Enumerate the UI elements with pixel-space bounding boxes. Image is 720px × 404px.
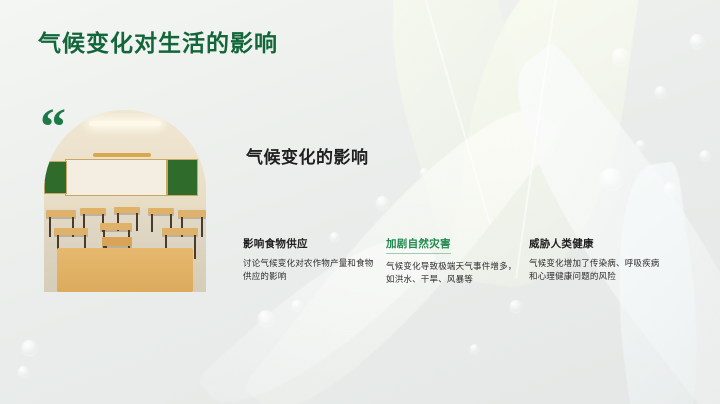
water-droplet-icon (690, 34, 704, 48)
photo-desk (46, 210, 76, 217)
leaf-shape-icon (359, 0, 557, 241)
photo-foreground-desk (57, 248, 193, 292)
photo-desk-leg (49, 217, 51, 237)
leaf-vein (415, 0, 491, 225)
photo-desk-leg (136, 213, 138, 231)
water-droplet-icon (470, 344, 479, 353)
classroom-photo (44, 110, 206, 292)
impact-column-body: 气候变化增加了传染病、呼吸疾病和心理健康问题的风险 (529, 257, 660, 283)
photo-desk-leg (194, 235, 196, 259)
impact-column-body: 讨论气候变化对农作物产量和食物供应的影响 (243, 257, 374, 283)
impact-column-heading: 加剧自然灾害 (386, 236, 451, 254)
photo-desk-leg (201, 217, 203, 237)
water-droplet-icon (292, 300, 302, 310)
impact-column-health: 威胁人类健康 气候变化增加了传染病、呼吸疾病和心理健康问题的风险 (529, 234, 672, 286)
slide-title: 气候变化对生活的影响 (38, 24, 278, 58)
photo-desk (162, 228, 198, 235)
photo-whiteboard (65, 159, 167, 196)
water-droplet-icon (612, 48, 629, 65)
photo-desk (100, 223, 132, 230)
slide-canvas: 气候变化对生活的影响 (0, 0, 720, 404)
impact-column-food: 影响食物供应 讨论气候变化对农作物产量和食物供应的影响 (243, 234, 386, 286)
impact-column-disasters: 加剧自然灾害 气候变化导致极端天气事件增多，如洪水、干旱、风暴等 (386, 234, 529, 286)
impact-columns: 影响食物供应 讨论气候变化对农作物产量和食物供应的影响 加剧自然灾害 气候变化导… (243, 234, 673, 286)
photo-desk (178, 210, 206, 217)
photo-ceiling-light (89, 121, 160, 126)
water-droplet-icon (655, 86, 666, 97)
photo-chalkboard-right (167, 159, 198, 196)
water-droplet-icon (600, 168, 622, 190)
water-droplet-icon (18, 366, 29, 377)
leaf-shape-icon (467, 41, 720, 404)
photo-desk (54, 228, 88, 235)
water-droplet-icon (510, 300, 522, 312)
water-droplet-icon (664, 182, 677, 195)
photo-chalkboard-left (44, 161, 67, 194)
water-droplet-icon (700, 150, 710, 160)
quote-mark-icon: “ (40, 102, 66, 154)
section-heading: 气候变化的影响 (246, 143, 369, 168)
impact-column-body: 气候变化导致极端天气事件增多，如洪水、干旱、风暴等 (386, 260, 517, 286)
water-droplet-icon (420, 168, 428, 176)
water-droplet-icon (258, 310, 274, 326)
photo-desk-leg (151, 214, 153, 232)
water-droplet-icon (376, 196, 389, 209)
photo-board-rail (93, 153, 151, 157)
photo-chair (102, 237, 132, 246)
impact-column-heading: 影响食物供应 (243, 236, 308, 251)
impact-column-heading: 威胁人类健康 (529, 236, 594, 251)
water-droplet-icon (636, 140, 645, 149)
water-droplet-icon (22, 340, 37, 355)
